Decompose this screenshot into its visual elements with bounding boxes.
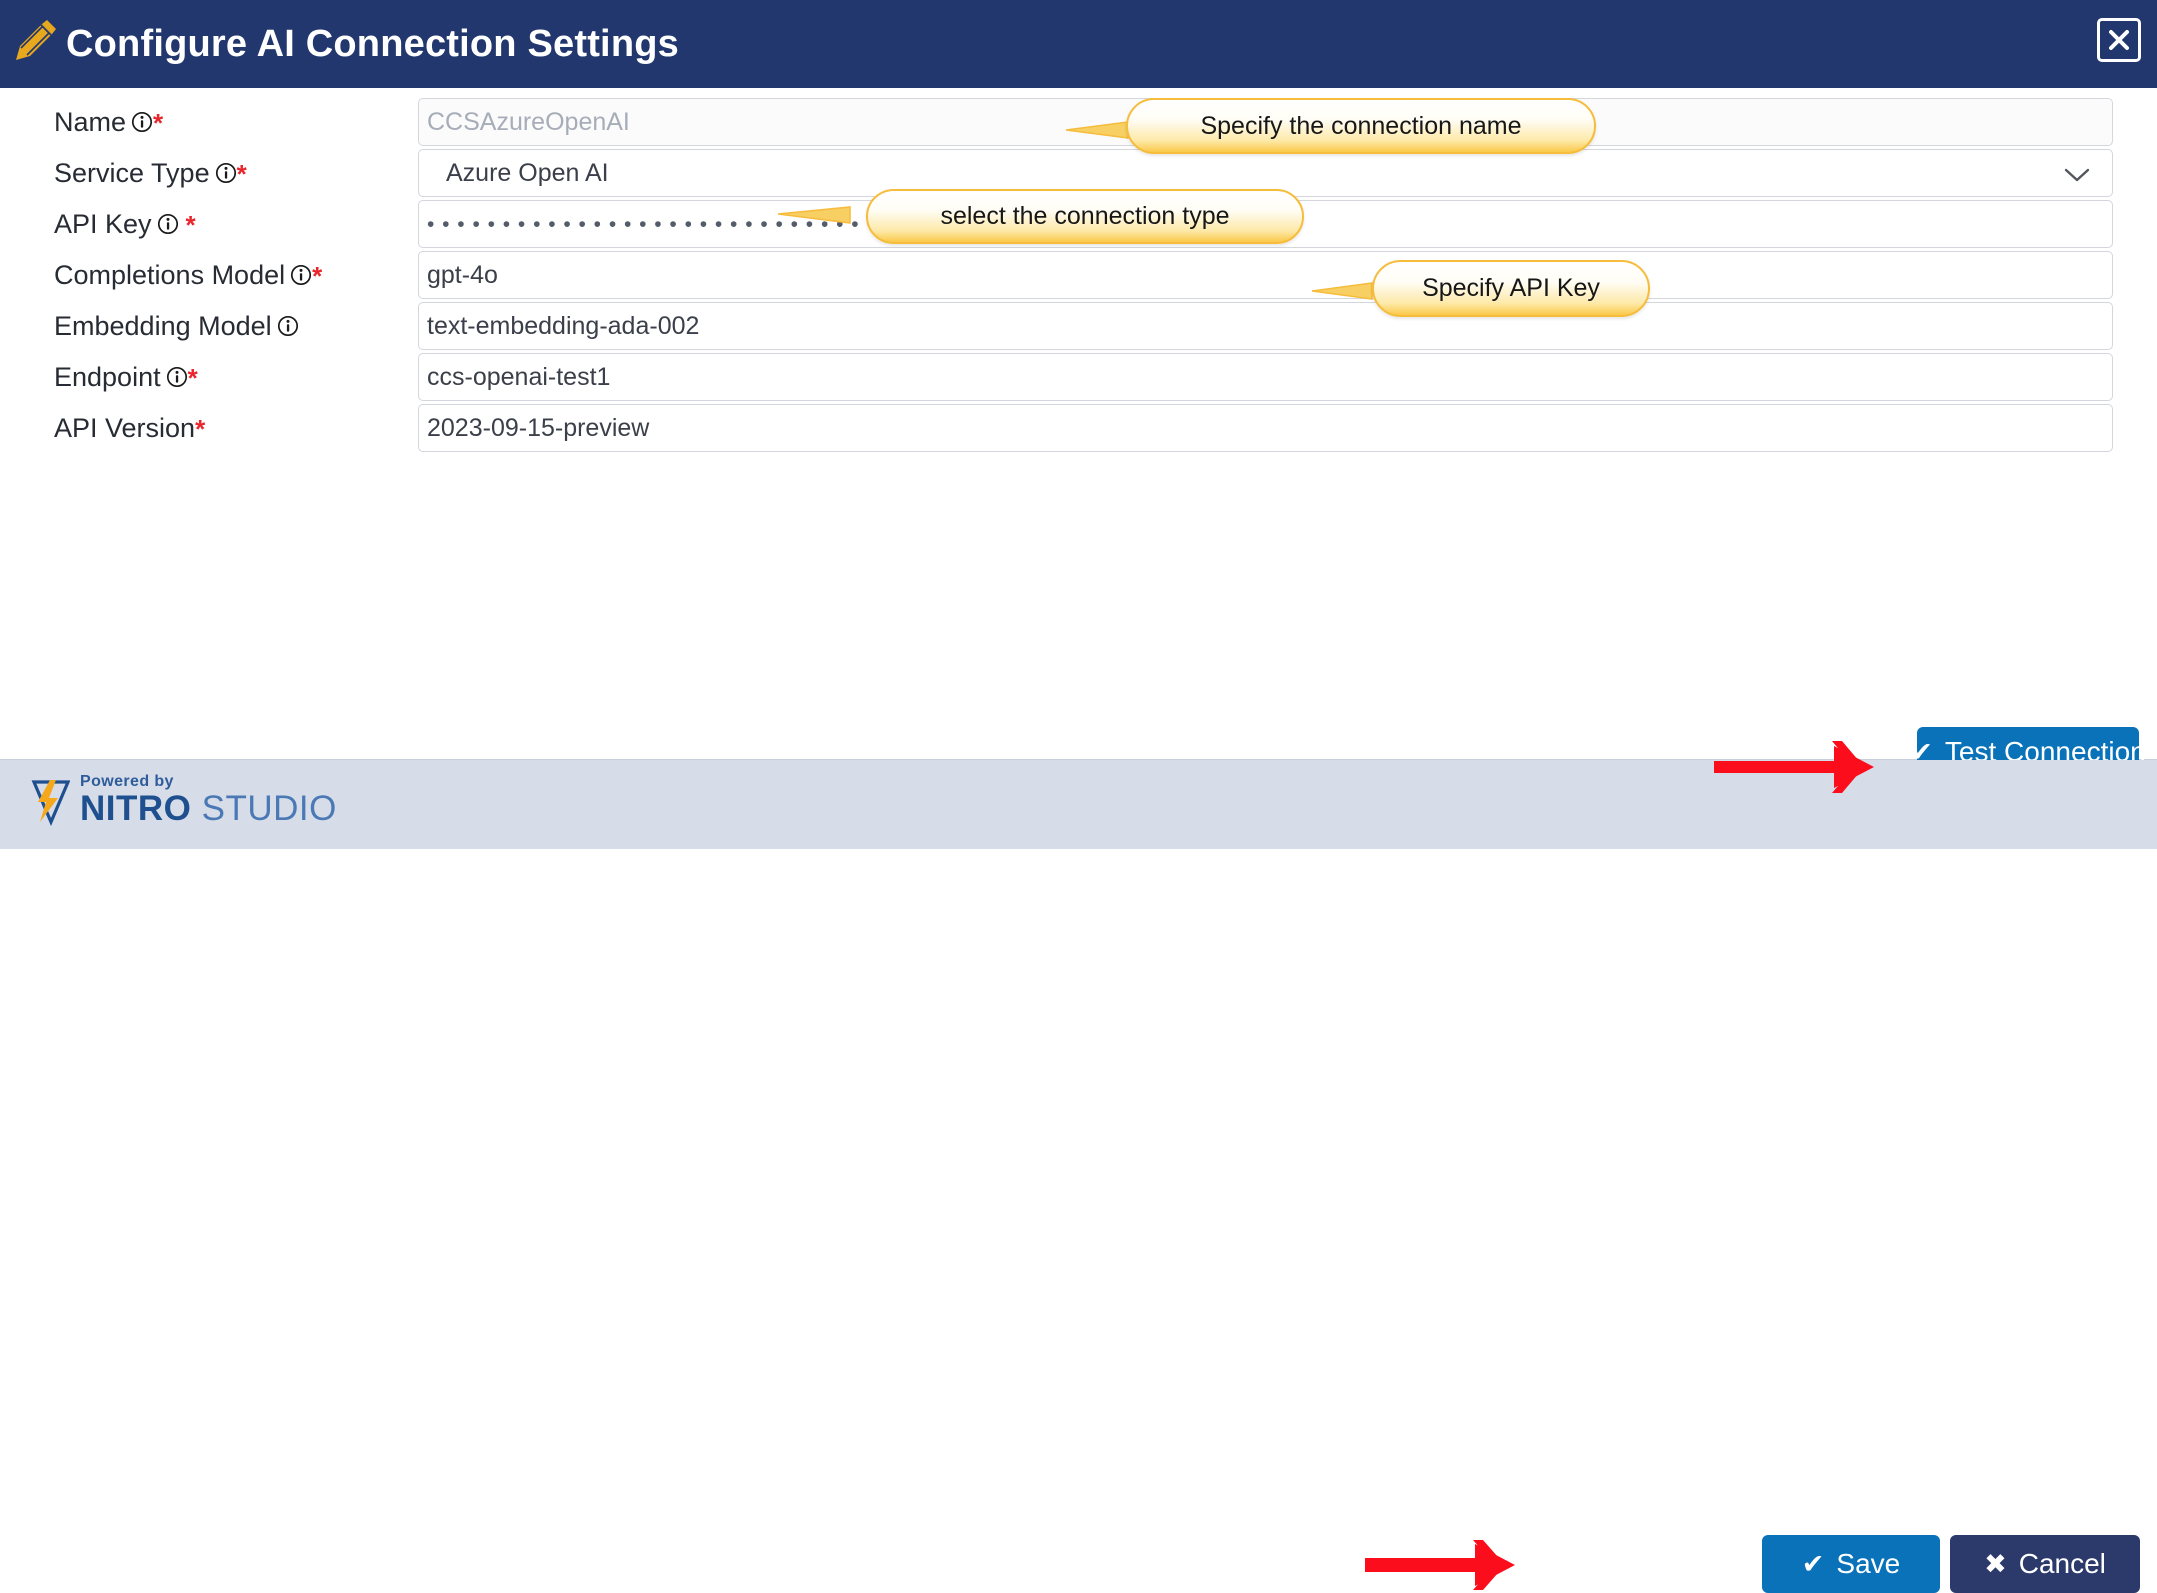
save-label: Save: [1836, 1548, 1900, 1580]
required-asterisk: *: [153, 108, 163, 138]
callout-tail-2: [778, 198, 858, 228]
required-asterisk: *: [195, 414, 205, 444]
info-icon[interactable]: [157, 213, 179, 235]
callout-select-connection-type: select the connection type: [866, 189, 1304, 244]
check-icon: ✔: [1802, 1551, 1825, 1578]
form-row-endpoint: Endpoint *ccs-openai-test1: [0, 353, 2157, 401]
info-icon[interactable]: [166, 366, 188, 388]
input-endpoint[interactable]: ccs-openai-test1: [418, 353, 2113, 401]
cancel-label: Cancel: [2019, 1548, 2106, 1580]
label-text-api-key: API Key: [54, 209, 152, 239]
label-text-completions-model: Completions Model: [54, 260, 285, 290]
close-icon: ✖: [1984, 1551, 2007, 1578]
required-asterisk: *: [312, 261, 322, 291]
info-icon[interactable]: [290, 264, 312, 286]
close-x-glyph: [2106, 27, 2132, 53]
nitro-bolt-icon: [24, 778, 70, 826]
save-button[interactable]: ✔ Save: [1762, 1535, 1940, 1593]
required-asterisk: *: [186, 210, 196, 240]
input-completions-model[interactable]: gpt-4o: [418, 251, 2113, 299]
nitro-studio-logo: Powered by NITRO STUDIO: [24, 774, 337, 826]
input-embedding-model[interactable]: text-embedding-ada-002: [418, 302, 2113, 350]
label-service-type: Service Type *: [54, 149, 247, 197]
label-endpoint: Endpoint *: [54, 353, 198, 401]
label-embedding-model: Embedding Model: [54, 302, 299, 350]
label-text-endpoint: Endpoint: [54, 362, 161, 392]
pencil-icon: [8, 16, 60, 68]
form-row-api-version: API Version*2023-09-15-preview: [0, 404, 2157, 452]
dialog-titlebar: Configure AI Connection Settings: [0, 0, 2157, 88]
logo-nitro: NITRO: [80, 789, 191, 828]
label-api-key: API Key *: [54, 200, 196, 248]
info-icon[interactable]: [215, 162, 237, 184]
logo-studio: STUDIO: [202, 789, 337, 828]
chevron-down-icon[interactable]: [2064, 167, 2090, 183]
label-text-embedding-model: Embedding Model: [54, 311, 272, 341]
info-icon[interactable]: [277, 315, 299, 337]
callout-text: Specify API Key: [1422, 274, 1600, 303]
form-row-completions-model: Completions Model *gpt-4o: [0, 251, 2157, 299]
logo-powered-by: Powered by: [80, 774, 337, 790]
label-api-version: API Version*: [54, 404, 205, 452]
label-text-api-version: API Version: [54, 413, 195, 443]
callout-specify-connection-name: Specify the connection name: [1126, 98, 1596, 154]
required-asterisk: *: [188, 363, 198, 393]
arrow-to-save: [1365, 1538, 1575, 1592]
info-icon[interactable]: [131, 111, 153, 133]
cancel-button[interactable]: ✖ Cancel: [1950, 1535, 2140, 1593]
label-text-service-type: Service Type: [54, 158, 210, 188]
page-title: Configure AI Connection Settings: [66, 23, 679, 66]
input-api-version[interactable]: 2023-09-15-preview: [418, 404, 2113, 452]
label-completions-model: Completions Model *: [54, 251, 322, 299]
callout-specify-api-key: Specify API Key: [1372, 260, 1650, 317]
form-row-embedding-model: Embedding Model text-embedding-ada-002: [0, 302, 2157, 350]
callout-text: select the connection type: [940, 202, 1229, 231]
label-text-name: Name: [54, 107, 126, 137]
arrow-to-test-connection: [1714, 738, 1914, 796]
label-name: Name *: [54, 98, 163, 146]
close-icon[interactable]: [2097, 18, 2141, 62]
required-asterisk: *: [237, 159, 247, 189]
callout-text: Specify the connection name: [1200, 112, 1521, 141]
